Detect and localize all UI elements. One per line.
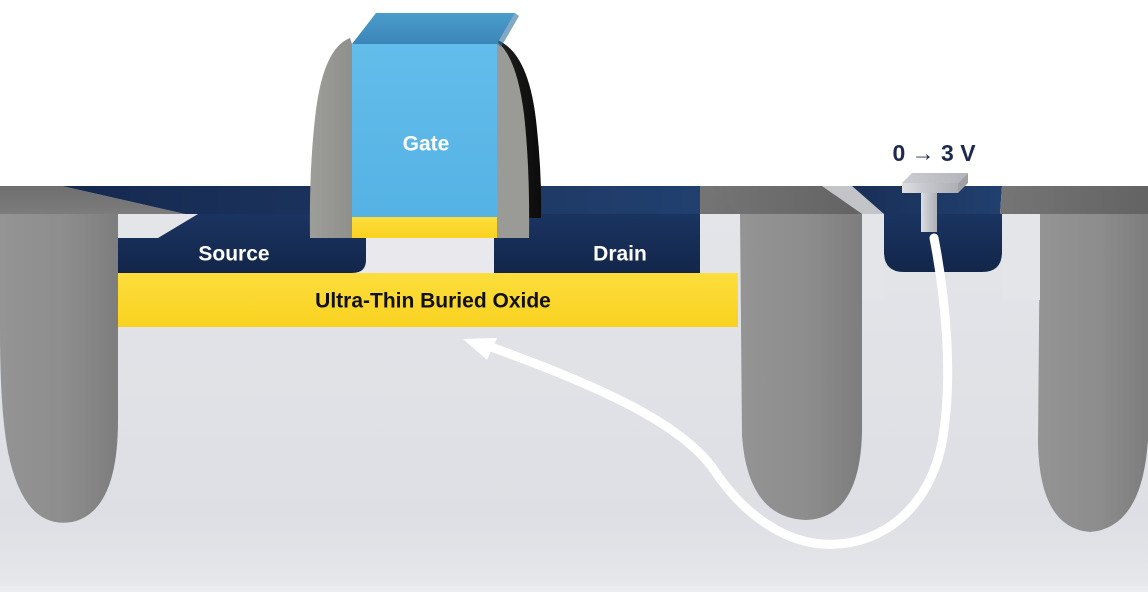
gate-label: Gate	[403, 133, 450, 156]
channel-region	[352, 238, 494, 273]
gate-electrode	[352, 13, 519, 217]
drain-label: Drain	[593, 243, 647, 266]
source-label: Source	[198, 243, 269, 266]
figure-canvas: Gate Source Drain Ultra-Thin Buried Oxid…	[0, 0, 1148, 604]
back-gate-bias-label: 0 → 3 V	[892, 140, 976, 166]
buried-oxide-label: Ultra-Thin Buried Oxide	[315, 290, 551, 313]
wafer-top-surface	[0, 186, 1148, 214]
gate-oxide-layer	[352, 216, 497, 238]
